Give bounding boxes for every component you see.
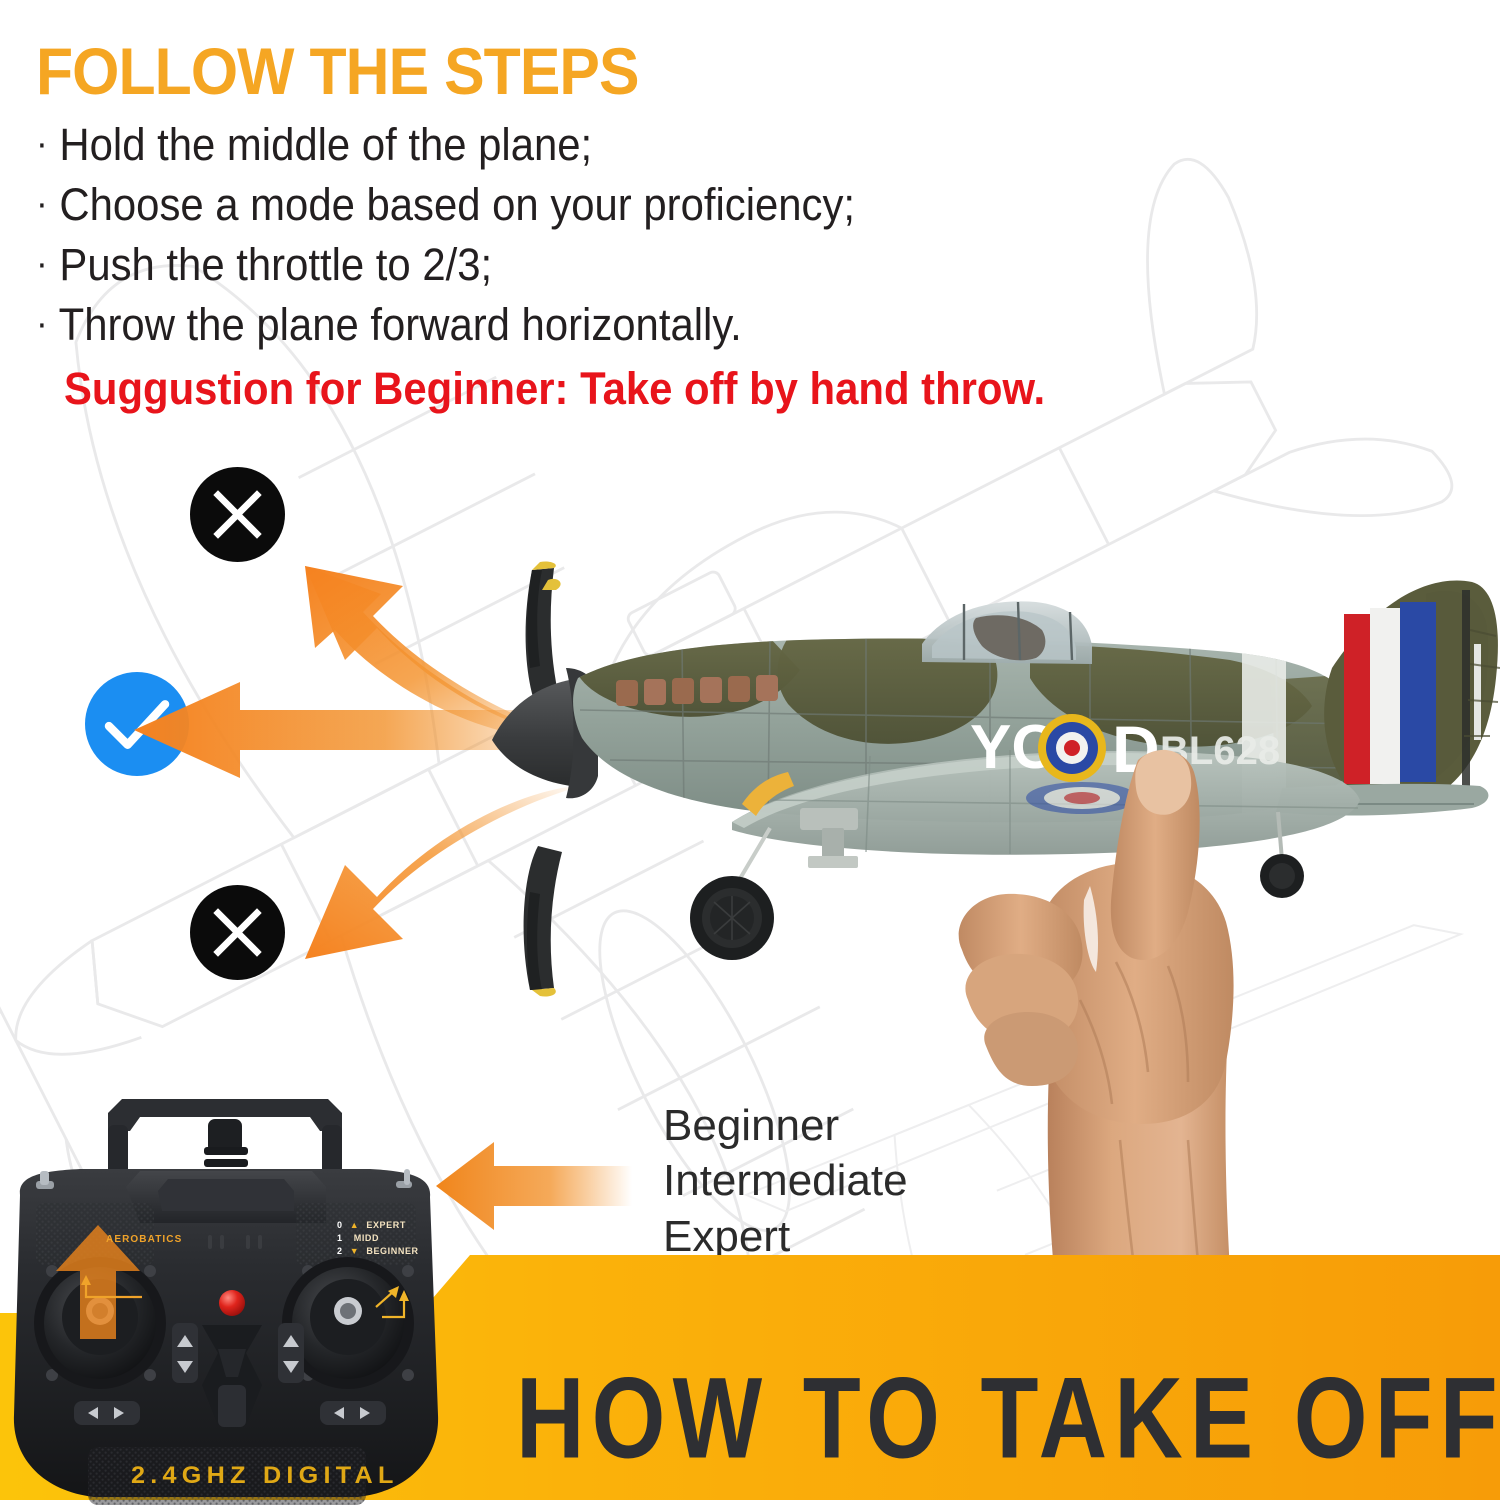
switch-num: 0 (337, 1220, 343, 1230)
switch-tri: ▼ (350, 1246, 360, 1256)
step-item: · Hold the middle of the plane; (36, 115, 1133, 175)
x-icon (190, 467, 285, 562)
step-text: Choose a mode based on your proficiency; (59, 179, 855, 230)
flight-mode-list: Beginner Intermediate Expert (663, 1098, 908, 1264)
instruction-block: FOLLOW THE STEPS · Hold the middle of th… (36, 38, 1216, 419)
switch-row-midd: 1 MIDD (337, 1232, 419, 1245)
page-title: FOLLOW THE STEPS (36, 38, 1122, 105)
arrow-left-to-transmitter-icon (432, 1140, 632, 1232)
step-item: · Throw the plane forward horizontally. (36, 295, 1133, 355)
cockpit-canopy (922, 601, 1092, 664)
infographic-canvas: FOLLOW THE STEPS · Hold the middle of th… (0, 0, 1500, 1500)
power-led (219, 1290, 245, 1316)
step-item: · Push the throttle to 2/3; (36, 235, 1133, 295)
switch-tri: ▲ (350, 1220, 360, 1230)
switch-label: MIDD (354, 1233, 379, 1243)
switch-label: BEGINNER (366, 1246, 418, 1256)
switch-num: 2 (337, 1246, 343, 1256)
steps-list: · Hold the middle of the plane; · Choose… (36, 115, 1216, 418)
step-text: Throw the plane forward horizontally. (59, 299, 742, 350)
aerobatics-label: AEROBATICS (106, 1234, 182, 1245)
bullet-glyph: · (36, 243, 48, 285)
mode-switch-legend: 0 ▲ EXPERT 1 MIDD 2 ▼ BEGINNER (337, 1219, 419, 1257)
bullet-glyph: · (36, 183, 48, 225)
step-item: · Choose a mode based on your proficienc… (36, 175, 1133, 235)
switch-num: 1 (337, 1233, 343, 1243)
bullet-glyph: · (36, 123, 48, 165)
rc-transmitter (0, 1085, 460, 1505)
switch-row-expert: 0 ▲ EXPERT (337, 1219, 419, 1232)
step-text: Hold the middle of the plane; (59, 119, 592, 170)
x-icon (190, 885, 285, 980)
mode-item-beginner: Beginner (663, 1098, 908, 1153)
mode-item-intermediate: Intermediate (663, 1153, 908, 1208)
switch-label: EXPERT (366, 1220, 406, 1230)
step-text: Push the throttle to 2/3; (59, 239, 492, 290)
beginner-note: Suggustion for Beginner: Take off by han… (64, 359, 1135, 419)
tail-fin (1324, 581, 1500, 796)
banner-title: HOW TO TAKE OFF (516, 1352, 1500, 1485)
transmitter-brand-text: 2.4GHZ DIGITAL (131, 1462, 399, 1490)
bullet-glyph: · (36, 303, 48, 345)
switch-row-beginner: 2 ▼ BEGINNER (337, 1245, 419, 1258)
